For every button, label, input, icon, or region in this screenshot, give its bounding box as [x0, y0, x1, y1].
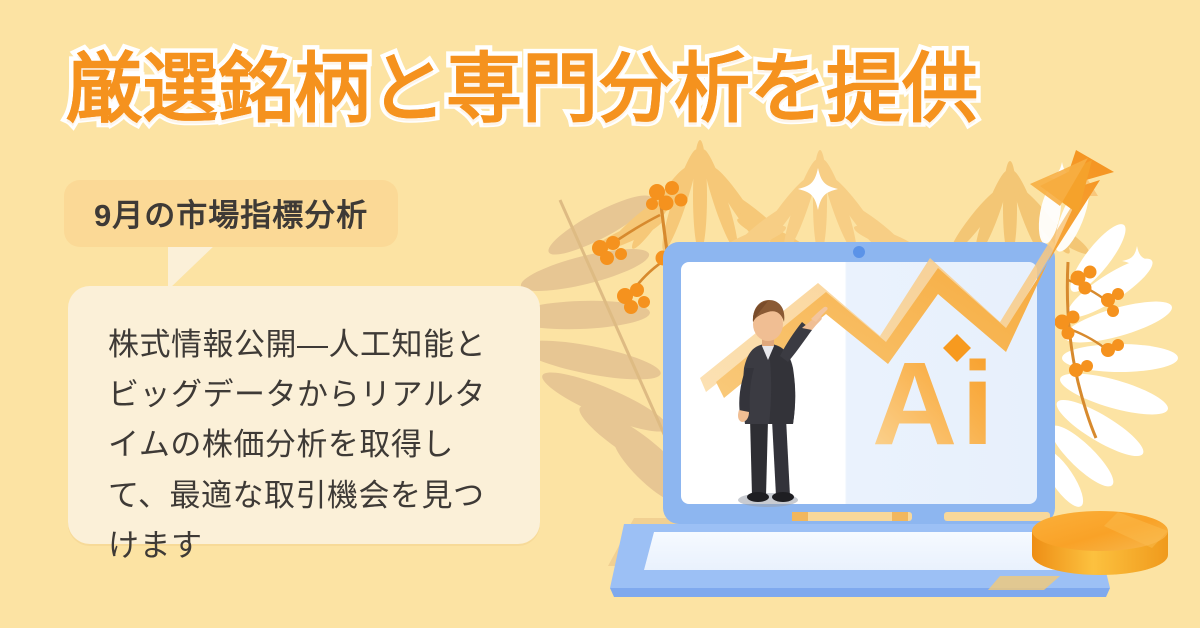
- laptop-keyboard-deck: [644, 532, 1078, 570]
- status-badge: 9月の市場指標分析: [64, 180, 398, 247]
- berry-sprig-right: [1055, 262, 1125, 438]
- chart-arrow-primary: [716, 150, 1114, 398]
- laptop-screen-display: [681, 262, 1037, 504]
- businessman-figure: [738, 300, 828, 507]
- laptop-ground-shadow: [608, 518, 1052, 566]
- svg-text:Ai: Ai: [872, 338, 998, 470]
- laptop-hinge-accents: [792, 512, 1050, 521]
- right-white-leaf-upper: [1035, 181, 1096, 256]
- webcam-dot-icon: [853, 246, 865, 258]
- coin-icon: [1032, 511, 1168, 575]
- golden-palm-frond-right: [945, 161, 1093, 259]
- page-title: 厳選銘柄と専門分析を提供: [66, 52, 978, 128]
- right-white-leaf-cluster: [1034, 218, 1178, 513]
- speech-bubble-tail: [168, 244, 216, 290]
- berry-sprig-left: [592, 181, 695, 337]
- sparkle-star-icon: [1122, 246, 1152, 276]
- chart-arrow-secondary: [700, 164, 1098, 392]
- chart-arrowhead: [1040, 160, 1092, 214]
- golden-palm-frond-left: [590, 140, 809, 257]
- sparkle-star-icon: [798, 168, 838, 210]
- sparkle-star-icon: [1047, 162, 1077, 192]
- ai-logo: Ai: [872, 334, 998, 470]
- chart-arrowhead-tip: [1030, 158, 1088, 206]
- speech-bubble-text: 株式情報公開—人工知能とビッグデータからリアルタイムの株価分析を取得して、最適な…: [108, 320, 512, 571]
- banner-canvas: Ai: [0, 0, 1200, 628]
- laptop-screen-bezel: [663, 242, 1055, 524]
- golden-palm-frond-center: [720, 150, 921, 257]
- laptop-base-gold-edge: [988, 576, 1060, 590]
- laptop-keyboard-bezel: [610, 524, 1110, 588]
- laptop-front-lip: [610, 588, 1110, 597]
